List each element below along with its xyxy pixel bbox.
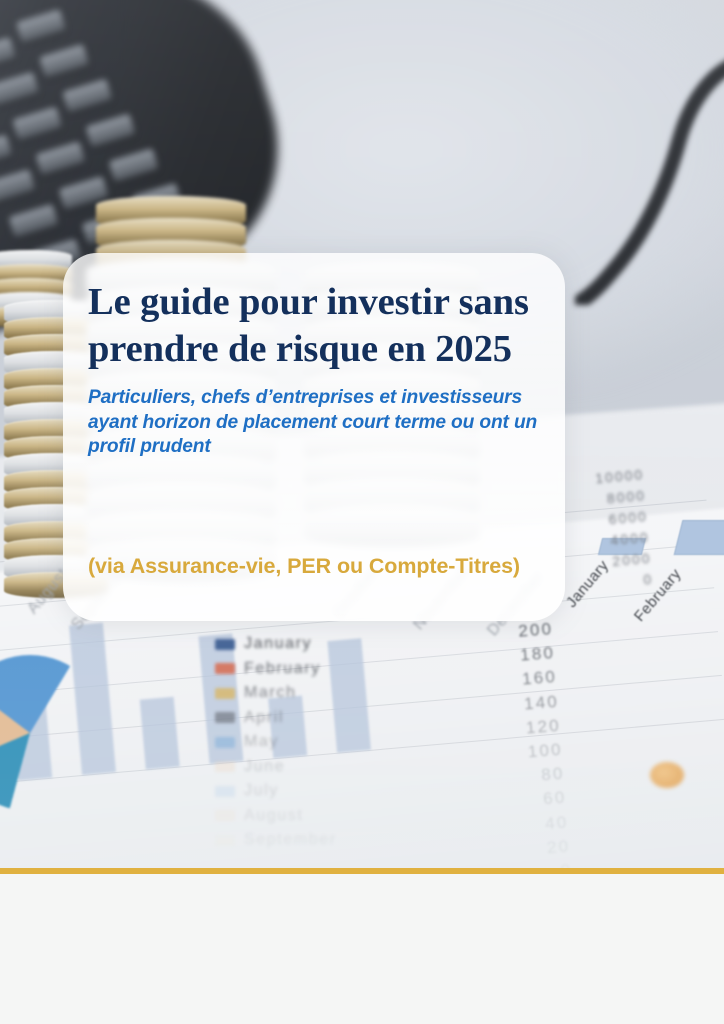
poster-page: January February 10000 8000 6000 4000 20… [0, 0, 724, 1024]
page-title: Le guide pour investir sans prendre de r… [88, 279, 543, 373]
headline-card: Le guide pour investir sans prendre de r… [63, 253, 565, 621]
footer: www.meridianpatrimoine.fr MERIDIAN [0, 874, 724, 1024]
page-tagline: (via Assurance-vie, PER ou Compte-Titres… [88, 553, 520, 580]
page-subtitle: Particuliers, chefs d’entreprises et inv… [88, 386, 543, 460]
headline-card-content: Le guide pour investir sans prendre de r… [88, 279, 543, 460]
